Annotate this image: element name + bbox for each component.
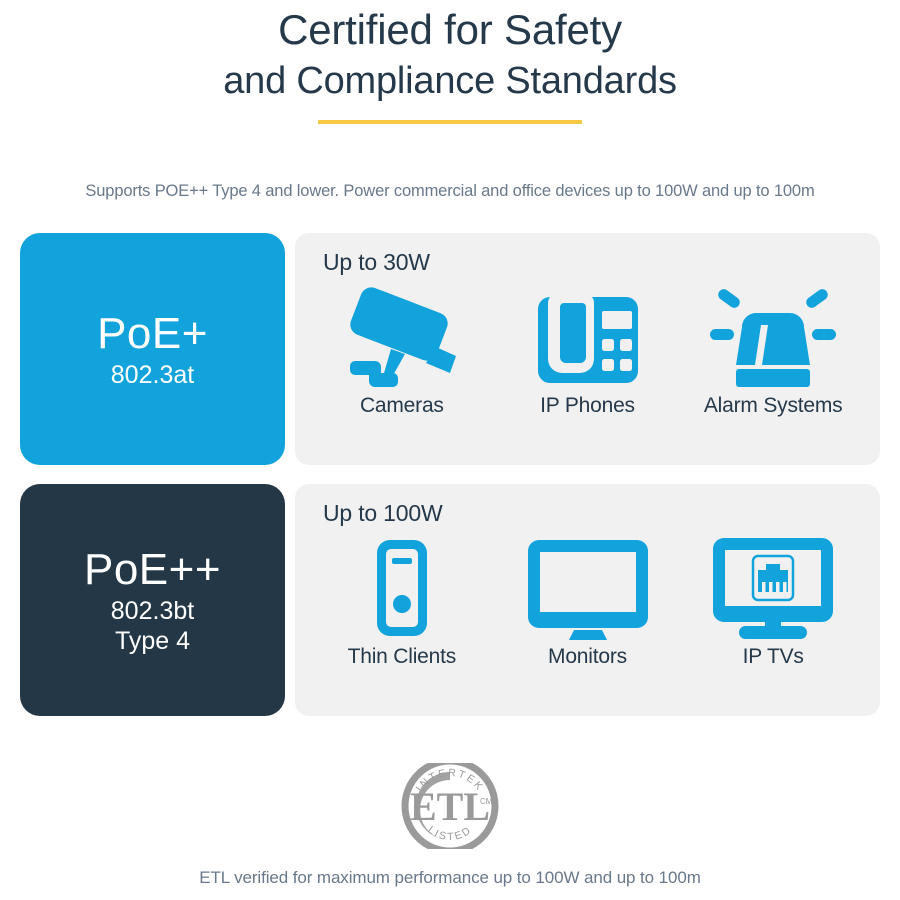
ip-phone-icon: [534, 282, 642, 392]
etl-logo-cm-mark: CM: [480, 797, 493, 806]
device-list: Cameras: [295, 282, 880, 418]
page-title-line-1: Certified for Safety: [0, 4, 900, 56]
etl-intertek-listed-logo: ETL INTERTEK LISTED CM: [396, 752, 504, 865]
page-title-line-2: and Compliance Standards: [0, 56, 900, 106]
certification-note: ETL verified for maximum performance up …: [0, 868, 900, 888]
subtitle-text: Supports POE++ Type 4 and lower. Power c…: [0, 182, 900, 201]
device-item: Alarm Systems: [680, 282, 866, 418]
device-label: Cameras: [360, 394, 444, 418]
page-header: Certified for Safety and Compliance Stan…: [0, 0, 900, 124]
device-label: Thin Clients: [348, 645, 456, 669]
poe-plus-badge: PoE+ 802.3at: [20, 233, 285, 465]
device-label: Monitors: [548, 645, 627, 669]
badge-type: Type 4: [115, 626, 190, 656]
poe-plusplus-panel: Up to 100W Thin Clients: [295, 484, 880, 716]
ip-tv-icon: [711, 533, 835, 643]
device-item: Monitors: [495, 533, 681, 669]
alarm-beacon-icon: [706, 282, 840, 392]
badge-title: PoE++: [84, 544, 221, 596]
poe-plusplus-row: PoE++ 802.3bt Type 4 Up to 100W Thin Cli…: [20, 484, 880, 716]
panel-heading: Up to 30W: [323, 249, 880, 276]
device-label: Alarm Systems: [704, 394, 843, 418]
device-label: IP Phones: [540, 394, 635, 418]
device-item: IP TVs: [680, 533, 866, 669]
badge-standard: 802.3at: [111, 360, 194, 390]
poe-plus-row: PoE+ 802.3at Up to 30W Cameras: [20, 233, 880, 465]
badge-title: PoE+: [97, 308, 208, 360]
thin-client-icon: [372, 533, 432, 643]
monitor-icon: [526, 533, 650, 643]
device-item: Thin Clients: [309, 533, 495, 669]
poe-plus-panel: Up to 30W Cameras: [295, 233, 880, 465]
device-list: Thin Clients Monitors: [295, 533, 880, 669]
security-camera-icon: [343, 282, 461, 392]
device-label: IP TVs: [743, 645, 804, 669]
panel-heading: Up to 100W: [323, 500, 880, 527]
title-divider: [318, 120, 582, 124]
certification-logo-wrap: ETL INTERTEK LISTED CM: [0, 752, 900, 865]
device-item: IP Phones: [495, 282, 681, 418]
badge-standard: 802.3bt: [111, 596, 194, 626]
device-item: Cameras: [309, 282, 495, 418]
poe-plusplus-badge: PoE++ 802.3bt Type 4: [20, 484, 285, 716]
